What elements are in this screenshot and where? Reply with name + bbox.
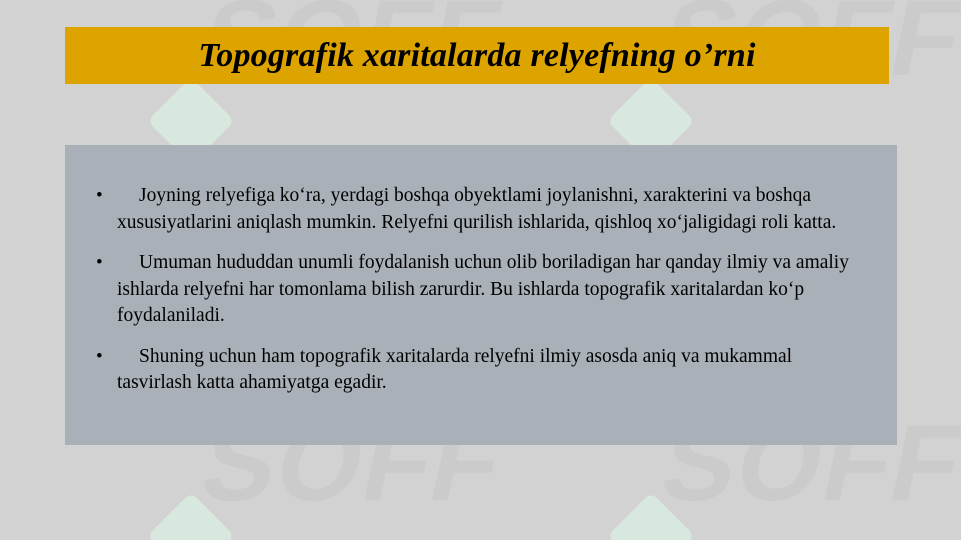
bullet-icon: • xyxy=(87,344,117,370)
bullet-text: Joyning relyefiga ko‘ra, yerdagi boshqa … xyxy=(117,183,871,236)
bullet-icon: • xyxy=(87,250,117,276)
list-item: • Joyning relyefiga ko‘ra, yerdagi boshq… xyxy=(87,183,871,236)
slide-body-panel: • Joyning relyefiga ko‘ra, yerdagi boshq… xyxy=(65,145,897,445)
watermark-diamond xyxy=(607,492,695,540)
list-item: • Shuning uchun ham topografik xaritalar… xyxy=(87,344,871,397)
page-title: Topografik xaritalarda relyefning o’rni xyxy=(198,37,755,75)
watermark-diamond xyxy=(147,492,235,540)
bullet-text: Shuning uchun ham topografik xaritalarda… xyxy=(117,344,871,397)
bullet-text: Umuman hududdan unumli foydalanish uchun… xyxy=(117,250,871,330)
list-item: • Umuman hududdan unumli foydalanish uch… xyxy=(87,250,871,330)
bullet-list: • Joyning relyefiga ko‘ra, yerdagi boshq… xyxy=(65,145,897,397)
bullet-icon: • xyxy=(87,183,117,209)
slide-title-band: Topografik xaritalarda relyefning o’rni xyxy=(65,27,889,84)
